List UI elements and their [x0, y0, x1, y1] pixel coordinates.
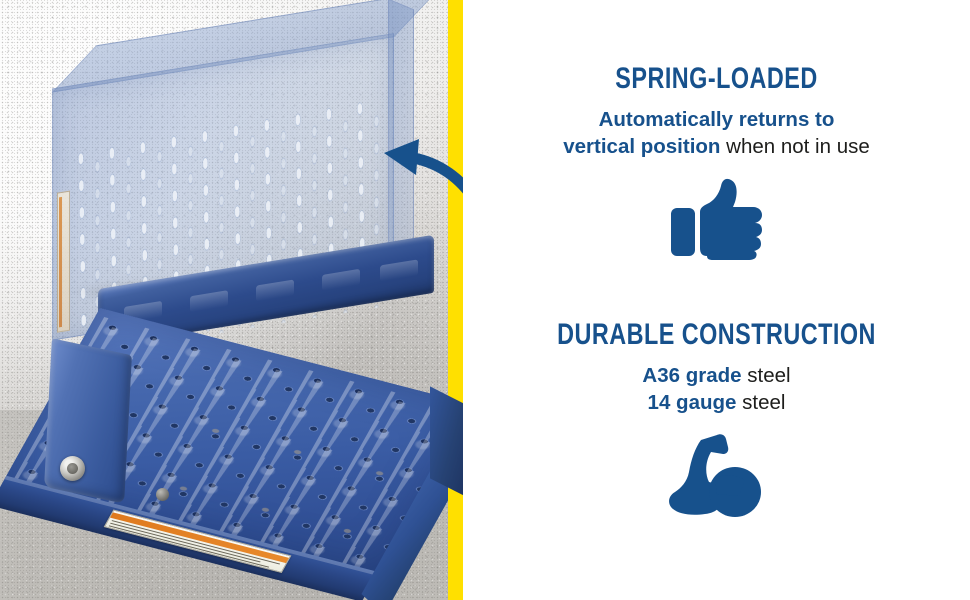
wall-mount-bracket — [44, 338, 132, 503]
feature-heading: DURABLE CONSTRUCTION — [519, 318, 914, 352]
feature-block-durable-construction: DURABLE CONSTRUCTION A36 grade steel 14 … — [463, 318, 970, 522]
feature-line1-bold: Automatically returns to — [599, 108, 835, 131]
feature-block-spring-loaded: SPRING-LOADED Automatically returns to v… — [463, 62, 970, 260]
hinge-notch — [256, 279, 294, 301]
hinge-notch — [322, 269, 360, 291]
feature-line2-bold: vertical position — [563, 135, 720, 158]
feature-line2-normal: steel — [742, 391, 785, 414]
thumbs-up-icon — [669, 178, 765, 260]
features-panel: SPRING-LOADED Automatically returns to v… — [463, 0, 970, 600]
hinge-notch — [190, 290, 228, 312]
step-corner-overlap — [430, 386, 464, 495]
feature-heading: SPRING-LOADED — [519, 62, 914, 96]
infographic-canvas: 90° SPRING-LOADED Automatically returns … — [0, 0, 970, 600]
feature-icon-wrap — [463, 178, 970, 260]
feature-line1-bold: A36 grade — [642, 364, 741, 387]
flexed-bicep-icon — [665, 434, 769, 522]
feature-description: A36 grade steel 14 gauge steel — [517, 362, 917, 416]
feature-icon-wrap — [463, 434, 970, 522]
feature-description: Automatically returns to vertical positi… — [517, 106, 917, 160]
mounting-bolt — [60, 456, 85, 481]
feature-line2-bold: 14 gauge — [648, 391, 737, 414]
feature-line1-normal: steel — [747, 364, 790, 387]
pivot-pin — [156, 488, 169, 501]
feature-line2-normal: when not in use — [726, 135, 870, 158]
